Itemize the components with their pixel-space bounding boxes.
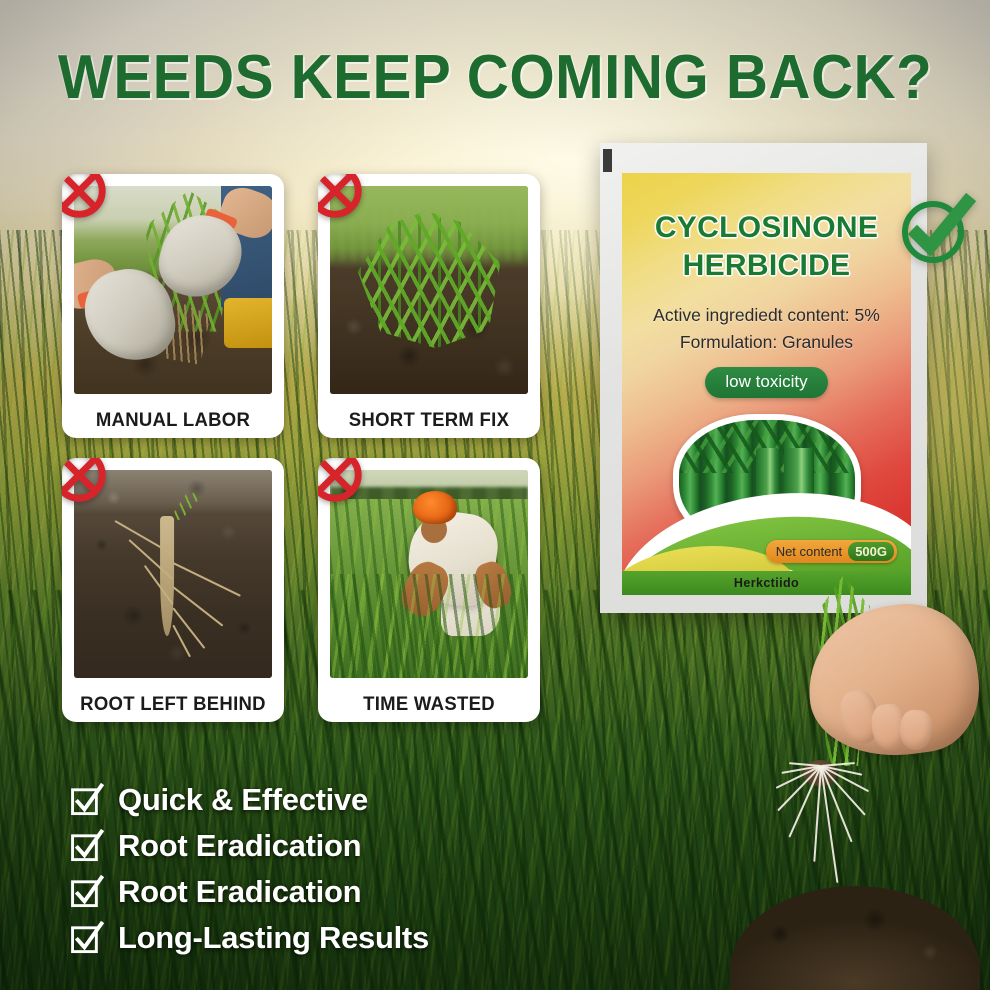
prohibition-icon (62, 458, 110, 506)
benefit-label: Root Eradication (118, 828, 361, 864)
benefit-item: Long-Lasting Results (70, 916, 429, 960)
net-content-label: Net content (776, 544, 843, 559)
checkbox-checked-icon (70, 829, 104, 863)
card-label: TIME WASTED (324, 693, 535, 716)
prohibition-icon (318, 458, 366, 506)
package-front-face: CYCLOSINONE HERBICIDE Active ingrediedt … (622, 173, 911, 595)
problem-card-manual-labor[interactable]: MANUAL LABOR (62, 174, 284, 438)
benefit-label: Quick & Effective (118, 782, 368, 818)
benefit-label: Long-Lasting Results (118, 920, 429, 956)
package-active-ingredient: Active ingrediedt content: 5% (622, 305, 911, 326)
benefit-item: Quick & Effective (70, 778, 429, 822)
prohibition-icon (318, 174, 366, 222)
problem-card-short-term-fix[interactable]: SHORT TERM FIX (318, 174, 540, 438)
checkbox-checked-icon (70, 783, 104, 817)
prohibition-icon (62, 174, 110, 222)
package-tear-notch (603, 149, 612, 172)
product-package[interactable]: CYCLOSINONE HERBICIDE Active ingrediedt … (600, 143, 927, 613)
poster-canvas: WEEDS KEEP COMING BACK? MANUAL LABOR (0, 0, 990, 990)
benefit-label: Root Eradication (118, 874, 361, 910)
check-circle-icon (893, 188, 977, 272)
net-content-value: 500G (848, 542, 894, 561)
card-label: MANUAL LABOR (68, 409, 279, 432)
card-label: ROOT LEFT BEHIND (68, 693, 279, 716)
benefits-list: Quick & Effective Root Eradication Root … (70, 778, 429, 960)
hero-photo-hand-pulling-weed (690, 570, 990, 990)
checkbox-checked-icon (70, 921, 104, 955)
package-title-line-1: CYCLOSINONE (622, 211, 911, 245)
problem-card-root-left-behind[interactable]: ROOT LEFT BEHIND (62, 458, 284, 722)
package-title-line-2: HERBICIDE (622, 249, 911, 283)
net-content-badge: Net content 500G (766, 540, 897, 563)
problem-card-time-wasted[interactable]: TIME WASTED (318, 458, 540, 722)
card-label: SHORT TERM FIX (324, 409, 535, 432)
low-toxicity-badge: low toxicity (705, 367, 827, 398)
checkbox-checked-icon (70, 875, 104, 909)
benefit-item: Root Eradication (70, 824, 429, 868)
page-title: WEEDS KEEP COMING BACK? (30, 42, 961, 113)
weed-root-system (760, 766, 880, 916)
package-formulation: Formulation: Granules (622, 332, 911, 353)
package-badge-row: low toxicity (622, 367, 911, 398)
benefit-item: Root Eradication (70, 870, 429, 914)
